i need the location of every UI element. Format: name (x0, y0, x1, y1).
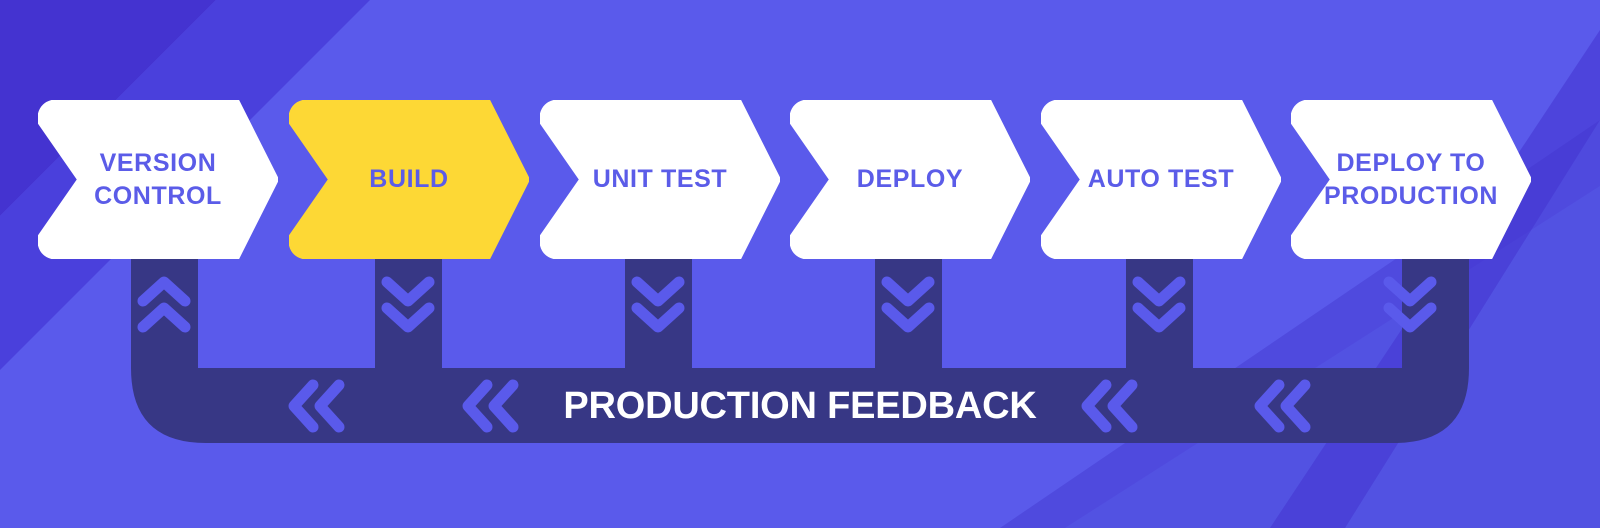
stage-card-build[interactable]: BUILD (289, 100, 529, 259)
stage-card-shape (1041, 100, 1281, 259)
stage-card-auto-test[interactable]: AUTO TEST (1041, 100, 1281, 259)
stage-card-shape (289, 100, 529, 259)
stage-card-shape (38, 100, 278, 259)
stage-card-version-control[interactable]: VERSION CONTROL (38, 100, 278, 259)
stage-card-shape (790, 100, 1030, 259)
stage-card-deploy[interactable]: DEPLOY (790, 100, 1030, 259)
pipeline-diagram: PRODUCTION FEEDBACK VERSION CONTROLBUILD… (0, 0, 1600, 528)
stage-card-list: VERSION CONTROLBUILDUNIT TESTDEPLOYAUTO … (0, 0, 1600, 528)
stage-card-unit-test[interactable]: UNIT TEST (540, 100, 780, 259)
stage-card-shape (540, 100, 780, 259)
stage-card-shape (1291, 100, 1531, 259)
stage-card-deploy-to-production[interactable]: DEPLOY TO PRODUCTION (1291, 100, 1531, 259)
